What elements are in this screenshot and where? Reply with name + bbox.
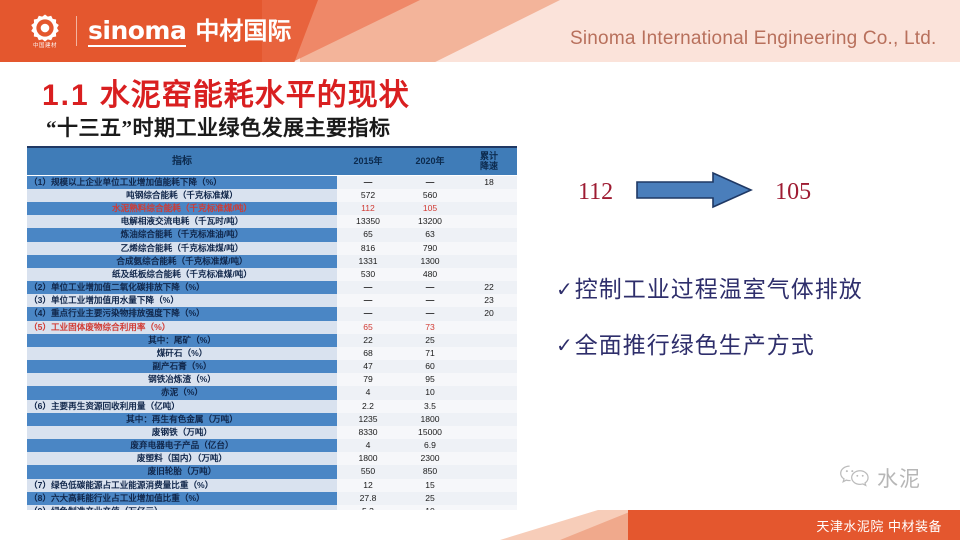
- table-row: 电解相液交流电耗（千瓦时/吨）1335013200: [27, 215, 517, 228]
- row-label: 其中：尾矿（%）: [27, 334, 337, 347]
- row-value-2015: 572: [337, 189, 399, 202]
- row-value-2020: —: [399, 307, 461, 320]
- table-row: 乙烯综合能耗（千克标准煤/吨）816790: [27, 242, 517, 255]
- row-value-2020: —: [399, 175, 461, 189]
- table-row: 煤矸石（%）6871: [27, 347, 517, 360]
- row-value-rate: [461, 400, 517, 413]
- row-value-2020: 3.5: [399, 400, 461, 413]
- row-value-2020: 6.9: [399, 439, 461, 452]
- row-label: 废钢铁（万吨）: [27, 426, 337, 439]
- page-subtitle: “十三五”时期工业绿色发展主要指标: [46, 112, 391, 142]
- row-value-rate: [461, 189, 517, 202]
- footer-label: 天津水泥院 中材装备: [816, 516, 942, 535]
- row-value-rate: 20: [461, 307, 517, 320]
- table-row: 钢铁冶炼渣（%）7995: [27, 373, 517, 386]
- row-value-rate: 23: [461, 294, 517, 307]
- row-value-2020: 25: [399, 334, 461, 347]
- row-value-2020: —: [399, 294, 461, 307]
- row-value-2015: 2.2: [337, 400, 399, 413]
- row-value-2020: 2300: [399, 452, 461, 465]
- row-value-2020: 73: [399, 321, 461, 334]
- table-row: 废旧轮胎（万吨）550850: [27, 465, 517, 478]
- row-value-2020: 1300: [399, 255, 461, 268]
- table-row: （3）单位工业增加值用水量下降（%）——23: [27, 294, 517, 307]
- row-label: 炼油综合能耗（千克标准油/吨）: [27, 228, 337, 241]
- row-value-2020: 63: [399, 228, 461, 241]
- row-value-2020: 15: [399, 479, 461, 492]
- row-label: 赤泥（%）: [27, 386, 337, 399]
- row-value-rate: [461, 426, 517, 439]
- row-value-2020: —: [399, 281, 461, 294]
- table-header-row: 指标 2015年 2020年 累计 降速: [27, 148, 517, 175]
- row-value-2015: 1800: [337, 452, 399, 465]
- row-value-2020: 105: [399, 202, 461, 215]
- table-row: （8）六大高耗能行业占工业增加值比重（%）27.825: [27, 492, 517, 505]
- col-header-label: 指标: [27, 148, 337, 175]
- bullet-label: 全面推行绿色生产方式: [575, 334, 815, 357]
- row-value-2015: 816: [337, 242, 399, 255]
- row-value-2015: 79: [337, 373, 399, 386]
- col-header-rate-line1: 累计: [480, 151, 498, 161]
- metrics-table-body: （1）规模以上企业单位工业增加值能耗下降（%）——18吨钢综合能耗（千克标准煤）…: [27, 175, 517, 518]
- row-value-2015: 550: [337, 465, 399, 478]
- header-band: 中国建材 sinoma 中材国际 Sinoma International En…: [0, 0, 960, 62]
- row-value-2020: 850: [399, 465, 461, 478]
- row-value-rate: [461, 492, 517, 505]
- table-row: 纸及纸板综合能耗（千克标准煤/吨）530480: [27, 268, 517, 281]
- table-row: （2）单位工业增加值二氧化碳排放下降（%）——22: [27, 281, 517, 294]
- row-label: （2）单位工业增加值二氧化碳排放下降（%）: [27, 281, 337, 294]
- row-value-rate: [461, 347, 517, 360]
- row-value-2020: 560: [399, 189, 461, 202]
- logo-divider: [76, 16, 77, 46]
- right-arrow-icon: [635, 171, 753, 214]
- row-value-rate: [461, 321, 517, 334]
- row-value-2015: 112: [337, 202, 399, 215]
- slide: 中国建材 sinoma 中材国际 Sinoma International En…: [0, 0, 960, 540]
- row-value-2015: 65: [337, 228, 399, 241]
- row-value-rate: [461, 465, 517, 478]
- row-label: 合成氨综合能耗（千克标准煤/吨）: [27, 255, 337, 268]
- row-value-2020: 480: [399, 268, 461, 281]
- table-row: 水泥熟料综合能耗（千克标准煤/吨）112105: [27, 202, 517, 215]
- row-value-rate: [461, 202, 517, 215]
- watermark-label: 水泥: [877, 463, 921, 493]
- row-value-2015: 22: [337, 334, 399, 347]
- row-value-2015: —: [337, 175, 399, 189]
- row-value-rate: [461, 242, 517, 255]
- row-label: 煤矸石（%）: [27, 347, 337, 360]
- row-label: 吨钢综合能耗（千克标准煤）: [27, 189, 337, 202]
- gear-logo-icon: 中国建材: [22, 8, 68, 54]
- col-header-2020: 2020年: [399, 148, 461, 175]
- watermark: 水泥: [838, 462, 921, 493]
- row-label: （1）规模以上企业单位工业增加值能耗下降（%）: [27, 175, 337, 189]
- wechat-logo-icon: [838, 462, 872, 493]
- table-row: 合成氨综合能耗（千克标准煤/吨）13311300: [27, 255, 517, 268]
- col-header-rate: 累计 降速: [461, 148, 517, 175]
- row-value-2015: 12: [337, 479, 399, 492]
- row-value-2015: 47: [337, 360, 399, 373]
- row-label: 乙烯综合能耗（千克标准煤/吨）: [27, 242, 337, 255]
- check-icon: ✓: [556, 336, 573, 356]
- row-value-2020: 60: [399, 360, 461, 373]
- logo-sub-label: 中国建材: [33, 44, 57, 50]
- row-value-2020: 790: [399, 242, 461, 255]
- company-name-en: Sinoma International Engineering Co., Lt…: [570, 28, 936, 50]
- check-icon: ✓: [556, 280, 573, 300]
- logo-brand-latin: sinoma: [88, 18, 186, 43]
- row-value-2015: —: [337, 307, 399, 320]
- table-row: （5）工业固体废物综合利用率（%）6573: [27, 321, 517, 334]
- logo-wordmark: sinoma 中材国际: [88, 18, 291, 44]
- row-label: 纸及纸板综合能耗（千克标准煤/吨）: [27, 268, 337, 281]
- table-row: （6）主要再生资源回收利用量（亿吨）2.23.5: [27, 400, 517, 413]
- row-label: 其中：再生有色金属（万吨）: [27, 413, 337, 426]
- bullet-list: ✓ 控制工业过程温室气体排放 ✓ 全面推行绿色生产方式: [556, 278, 956, 390]
- row-value-rate: 22: [461, 281, 517, 294]
- row-value-2015: 68: [337, 347, 399, 360]
- row-value-2020: 10: [399, 386, 461, 399]
- list-item: ✓ 全面推行绿色生产方式: [556, 334, 956, 357]
- table-row: （1）规模以上企业单位工业增加值能耗下降（%）——18: [27, 175, 517, 189]
- table-row: 废塑料（国内）（万吨）18002300: [27, 452, 517, 465]
- row-label: 废弃电器电子产品（亿台）: [27, 439, 337, 452]
- list-item: ✓ 控制工业过程温室气体排放: [556, 278, 956, 301]
- row-value-2020: 1800: [399, 413, 461, 426]
- table-row: 废弃电器电子产品（亿台）46.9: [27, 439, 517, 452]
- row-value-rate: [461, 228, 517, 241]
- bullet-label: 控制工业过程温室气体排放: [575, 278, 863, 301]
- row-value-2015: 27.8: [337, 492, 399, 505]
- table-row: 其中：再生有色金属（万吨）12351800: [27, 413, 517, 426]
- row-label: （3）单位工业增加值用水量下降（%）: [27, 294, 337, 307]
- metrics-table: 指标 2015年 2020年 累计 降速 （1）规模以上企业单位工业增加值能耗下…: [27, 148, 517, 518]
- row-value-rate: [461, 268, 517, 281]
- row-label: （8）六大高耗能行业占工业增加值比重（%）: [27, 492, 337, 505]
- row-label: 水泥熟料综合能耗（千克标准煤/吨）: [27, 202, 337, 215]
- row-value-2020: 25: [399, 492, 461, 505]
- col-header-rate-line2: 降速: [480, 161, 498, 171]
- row-label: （4）重点行业主要污染物排放强度下降（%）: [27, 307, 337, 320]
- row-value-2015: 1235: [337, 413, 399, 426]
- row-value-rate: [461, 334, 517, 347]
- kpi-from-value: 112: [578, 180, 613, 204]
- row-value-2015: 4: [337, 386, 399, 399]
- row-value-2020: 71: [399, 347, 461, 360]
- title-number: 1.1: [42, 79, 90, 112]
- table-row: 废钢铁（万吨）833015000: [27, 426, 517, 439]
- row-value-rate: [461, 413, 517, 426]
- col-header-2015: 2015年: [337, 148, 399, 175]
- table-row: （7）绿色低碳能源占工业能源消费量比重（%）1215: [27, 479, 517, 492]
- metrics-table-wrapper: 指标 2015年 2020年 累计 降速 （1）规模以上企业单位工业增加值能耗下…: [27, 146, 517, 520]
- kpi-to-value: 105: [775, 180, 811, 204]
- row-value-2020: 15000: [399, 426, 461, 439]
- row-label: 钢铁冶炼渣（%）: [27, 373, 337, 386]
- row-value-2020: 13200: [399, 215, 461, 228]
- row-value-rate: [461, 439, 517, 452]
- row-value-2015: —: [337, 294, 399, 307]
- row-value-rate: 18: [461, 175, 517, 189]
- footer-white-area: [0, 510, 520, 540]
- row-value-2015: 1331: [337, 255, 399, 268]
- table-row: （4）重点行业主要污染物排放强度下降（%）——20: [27, 307, 517, 320]
- table-row: 炼油综合能耗（千克标准油/吨）6563: [27, 228, 517, 241]
- row-value-rate: [461, 255, 517, 268]
- table-row: 其中：尾矿（%）2225: [27, 334, 517, 347]
- row-value-2015: 8330: [337, 426, 399, 439]
- page-title: 1.1水泥窑能耗水平的现状: [42, 70, 410, 114]
- row-value-rate: [461, 452, 517, 465]
- brand-logo: 中国建材 sinoma 中材国际: [22, 8, 291, 54]
- row-value-rate: [461, 479, 517, 492]
- row-value-2015: 4: [337, 439, 399, 452]
- title-text: 水泥窑能耗水平的现状: [100, 79, 410, 112]
- row-label: 废旧轮胎（万吨）: [27, 465, 337, 478]
- row-label: （5）工业固体废物综合利用率（%）: [27, 321, 337, 334]
- row-value-2015: —: [337, 281, 399, 294]
- row-value-rate: [461, 373, 517, 386]
- row-value-rate: [461, 360, 517, 373]
- row-label: 副产石膏（%）: [27, 360, 337, 373]
- row-value-2020: 95: [399, 373, 461, 386]
- row-label: （6）主要再生资源回收利用量（亿吨）: [27, 400, 337, 413]
- row-value-rate: [461, 386, 517, 399]
- row-value-2015: 65: [337, 321, 399, 334]
- row-value-2015: 530: [337, 268, 399, 281]
- row-label: 电解相液交流电耗（千瓦时/吨）: [27, 215, 337, 228]
- table-row: 赤泥（%）410: [27, 386, 517, 399]
- row-value-rate: [461, 215, 517, 228]
- table-row: 吨钢综合能耗（千克标准煤）572560: [27, 189, 517, 202]
- logo-brand-cn: 中材国际: [195, 20, 291, 44]
- kpi-comparison: 112 105: [578, 172, 811, 212]
- row-label: （7）绿色低碳能源占工业能源消费量比重（%）: [27, 479, 337, 492]
- table-row: 副产石膏（%）4760: [27, 360, 517, 373]
- row-label: 废塑料（国内）（万吨）: [27, 452, 337, 465]
- row-value-2015: 13350: [337, 215, 399, 228]
- footer-band: 天津水泥院 中材装备: [0, 510, 960, 540]
